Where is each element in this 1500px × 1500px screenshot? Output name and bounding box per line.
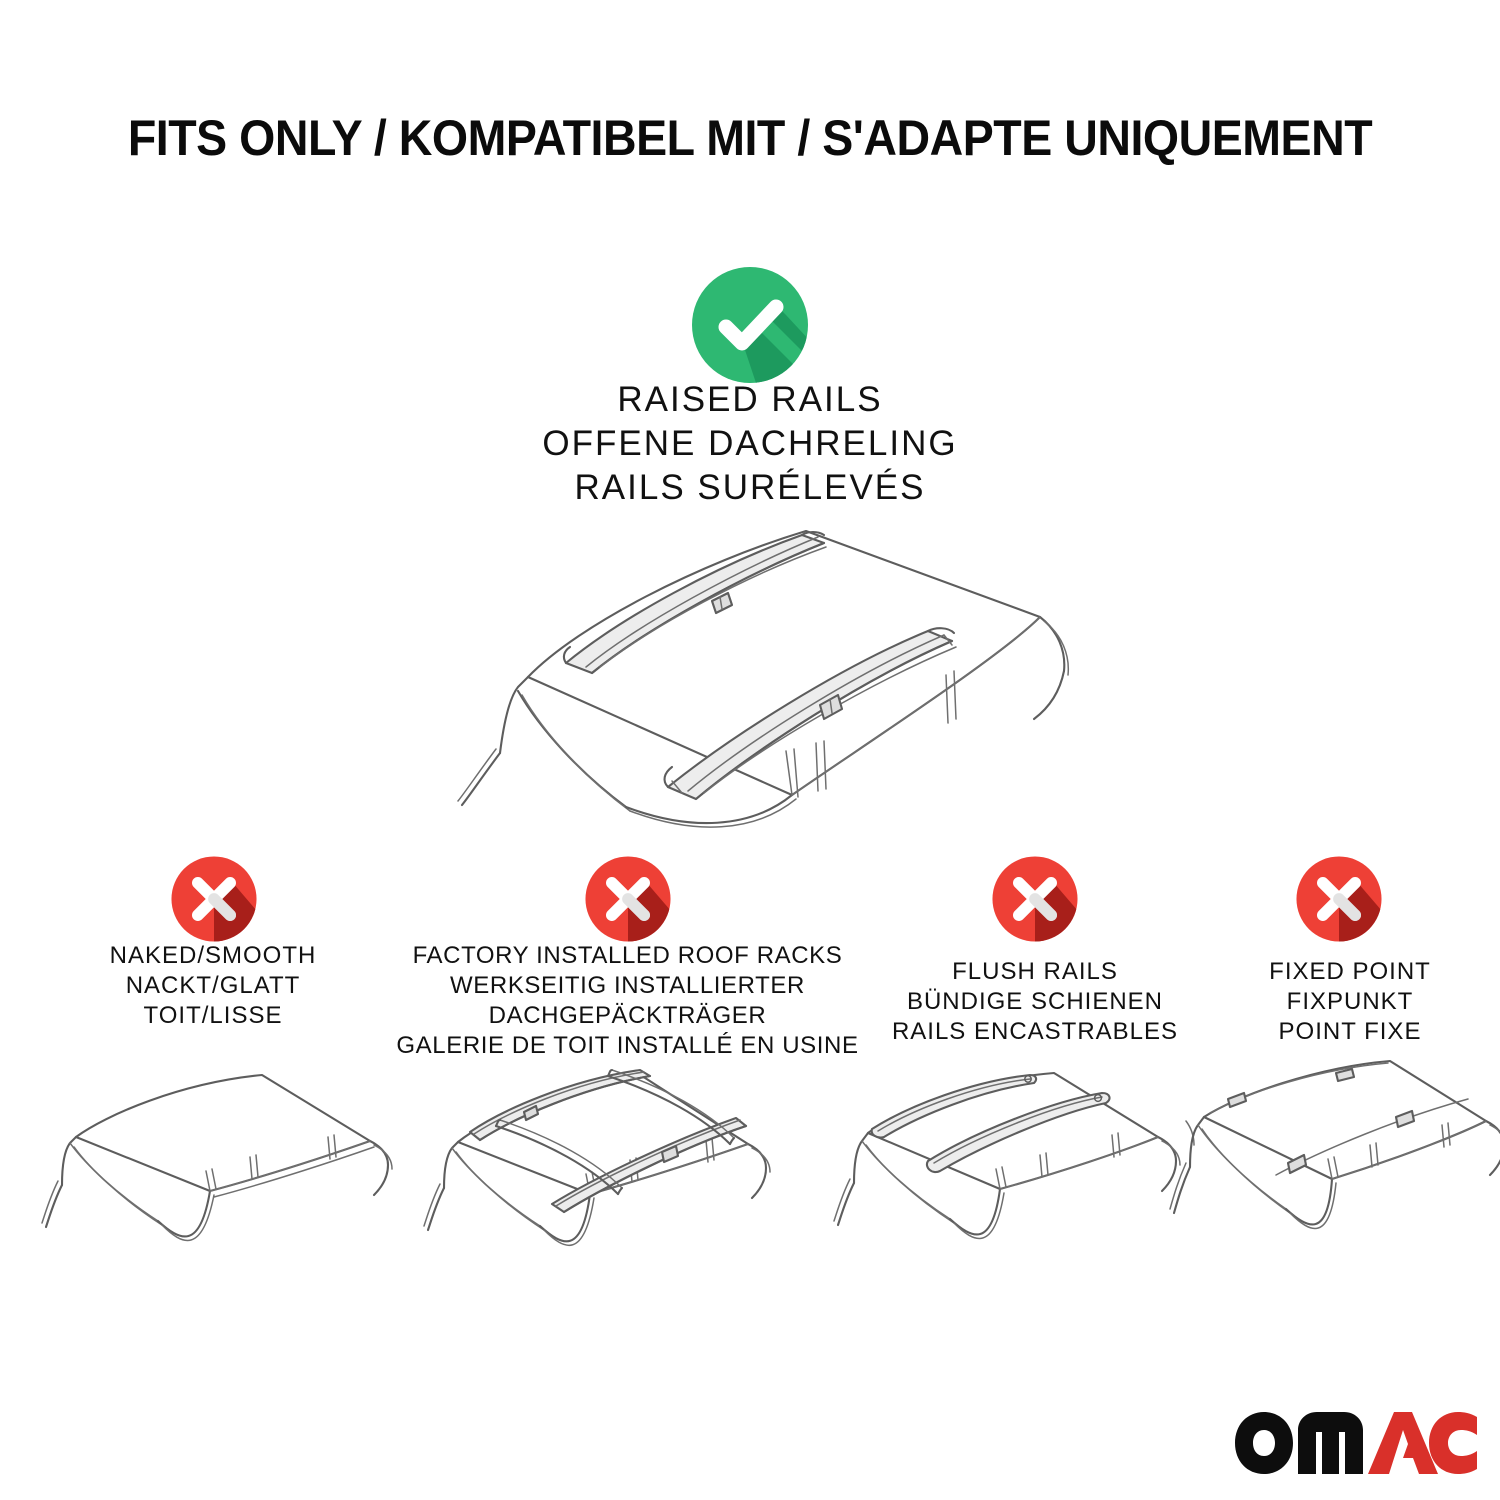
label-line-fr: TOIT/LISSE <box>23 1001 403 1031</box>
logo-letter-m <box>1298 1412 1363 1474</box>
fitment-infographic: FITS ONLY / KOMPATIBEL MIT / S'ADAPTE UN… <box>0 0 1500 1500</box>
page-title: FITS ONLY / KOMPATIBEL MIT / S'ADAPTE UN… <box>53 108 1448 168</box>
label-line-fr: POINT FIXE <box>1200 1017 1500 1047</box>
roof-with-raised-rails-illustration <box>400 505 1100 835</box>
incompatible-label-fixed-point: FIXED POINT FIXPUNKT POINT FIXE <box>1200 957 1500 1047</box>
label-line-de: NACKT/GLATT <box>23 971 403 1001</box>
omac-logo <box>1232 1408 1480 1478</box>
incompatible-label-flush-rails: FLUSH RAILS BÜNDIGE SCHIENEN RAILS ENCAS… <box>855 957 1215 1047</box>
red-x-icon-fixed-point <box>1295 855 1383 943</box>
roof-fixed-point-illustration <box>1168 1055 1500 1290</box>
label-line-en: FLUSH RAILS <box>855 957 1215 987</box>
roof-factory-racks-illustration <box>418 1048 790 1290</box>
red-x-icon-naked-smooth <box>170 855 258 943</box>
compatible-label-line-de: OFFENE DACHRELING <box>350 422 1150 466</box>
roof-naked-smooth-illustration <box>40 1055 405 1290</box>
label-line-fr: RAILS ENCASTRABLES <box>855 1017 1215 1047</box>
logo-letter-a <box>1368 1412 1438 1474</box>
label-line-de-2: DACHGEPÄCKTRÄGER <box>390 1001 865 1031</box>
compatible-label-line-fr: RAILS SURÉLEVÉS <box>350 466 1150 510</box>
label-line-en: NAKED/SMOOTH <box>23 941 403 971</box>
incompatible-label-factory-racks: FACTORY INSTALLED ROOF RACKS WERKSEITIG … <box>390 941 865 1061</box>
label-line-en: FIXED POINT <box>1200 957 1500 987</box>
label-line-de: FIXPUNKT <box>1200 987 1500 1017</box>
incompatible-label-naked-smooth: NAKED/SMOOTH NACKT/GLATT TOIT/LISSE <box>23 941 403 1031</box>
label-line-en: FACTORY INSTALLED ROOF RACKS <box>390 941 865 971</box>
green-check-icon <box>690 265 810 385</box>
label-line-de: BÜNDIGE SCHIENEN <box>855 987 1215 1017</box>
label-line-de-1: WERKSEITIG INSTALLIERTER <box>390 971 865 1001</box>
red-x-icon-flush-rails <box>991 855 1079 943</box>
compatible-label: RAISED RAILS OFFENE DACHRELING RAILS SUR… <box>350 378 1150 510</box>
logo-letter-c <box>1429 1412 1477 1474</box>
logo-letter-o <box>1235 1412 1293 1474</box>
roof-flush-rails-illustration <box>828 1055 1200 1290</box>
red-x-icon-factory-racks <box>584 855 672 943</box>
compatible-label-line-en: RAISED RAILS <box>350 378 1150 422</box>
